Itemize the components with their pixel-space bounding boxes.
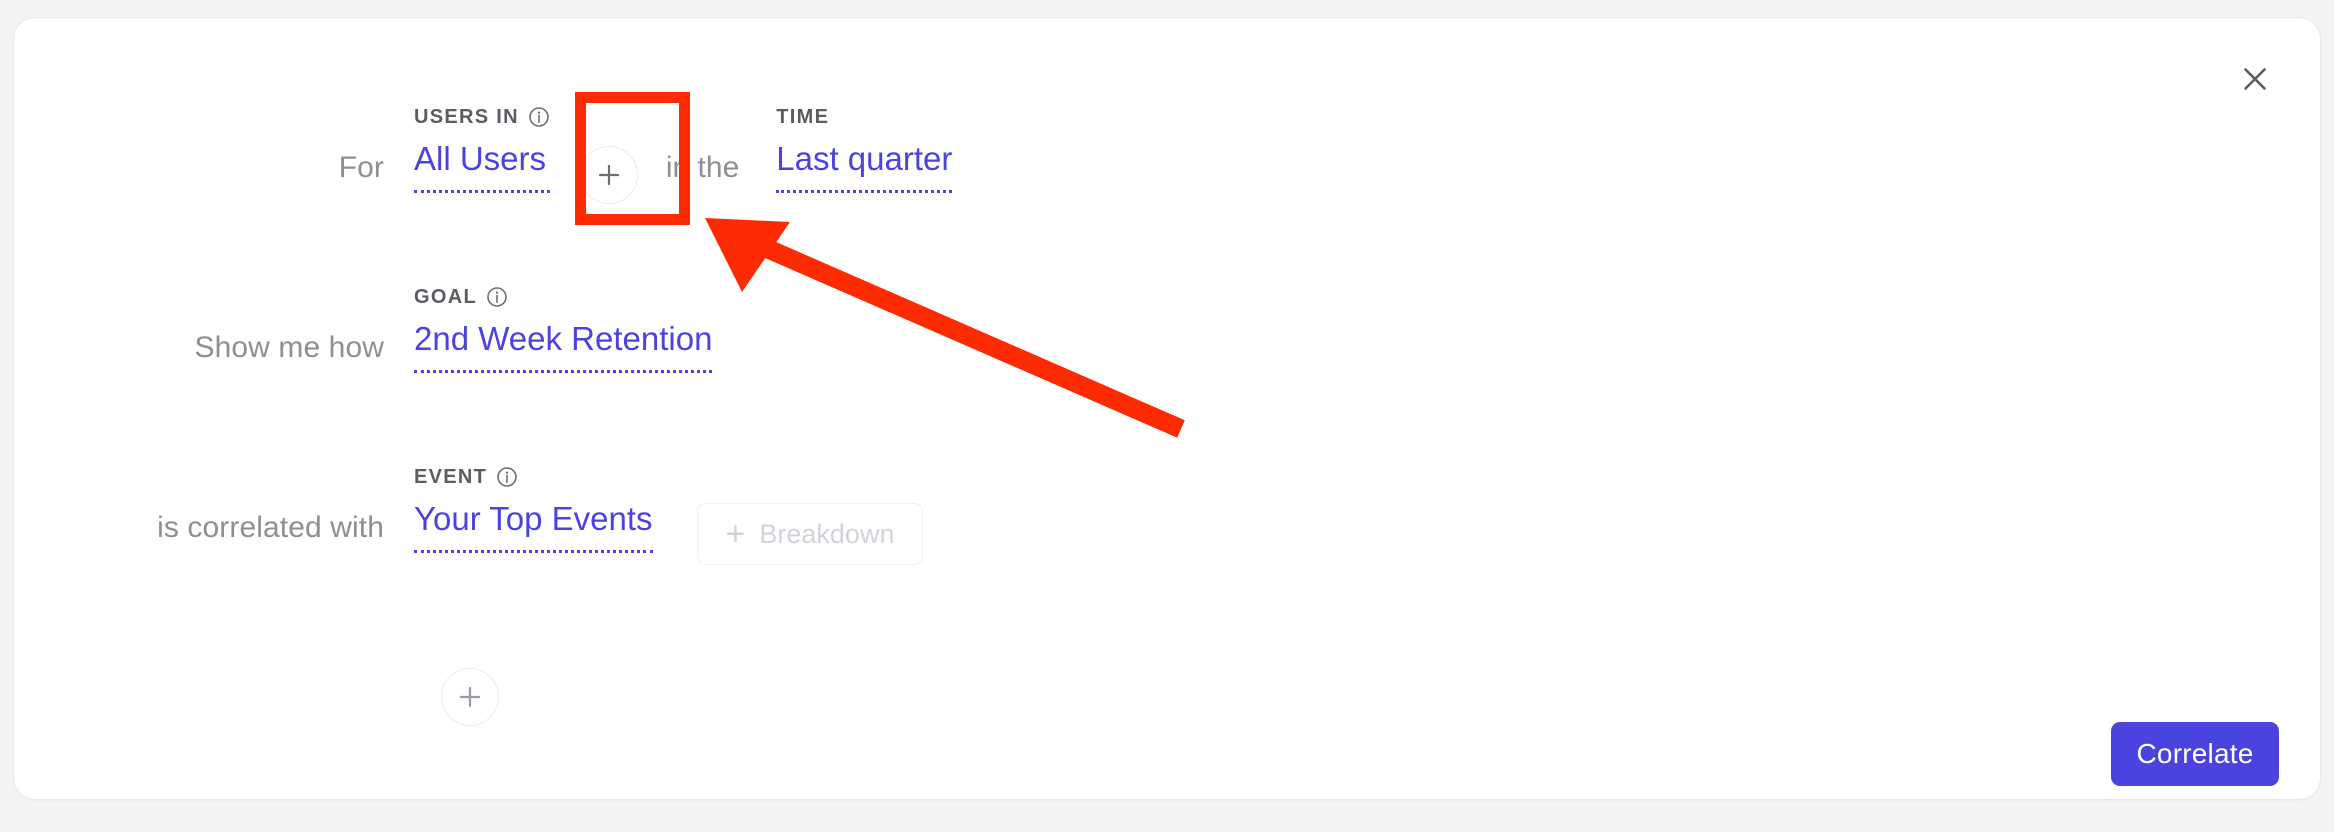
add-query-row-button[interactable] [441, 668, 499, 726]
plus-icon [596, 162, 622, 188]
field-value-users-in[interactable]: All Users [414, 138, 550, 193]
field-label-text: TIME [776, 106, 829, 129]
row-prefix-is-correlated-with: is correlated with [14, 464, 414, 545]
query-row-users: For USERS IN All Users [14, 104, 952, 224]
field-label-time: TIME [776, 104, 952, 130]
field-value-goal[interactable]: 2nd Week Retention [414, 318, 712, 373]
field-label-users-in: USERS IN [414, 104, 550, 130]
field-label-text: EVENT [414, 466, 487, 489]
field-label-text: GOAL [414, 286, 477, 309]
correlation-builder-card: For USERS IN All Users [13, 17, 2321, 800]
info-icon[interactable] [528, 106, 550, 128]
field-goal: GOAL 2nd Week Retention [414, 284, 712, 373]
close-button[interactable] [2232, 56, 2278, 102]
field-label-goal: GOAL [414, 284, 712, 310]
screen-root: For USERS IN All Users [0, 0, 2334, 832]
plus-icon [457, 684, 483, 710]
plus-icon: + [726, 517, 746, 551]
row-prefix-for: For [14, 104, 414, 185]
add-breakdown-button[interactable]: + Breakdown [697, 503, 924, 565]
field-label-event: EVENT [414, 464, 653, 490]
field-users-in: USERS IN All Users [414, 104, 550, 193]
field-time: TIME Last quarter [776, 104, 952, 193]
correlate-button[interactable]: Correlate [2111, 722, 2279, 786]
row-prefix-show-me-how: Show me how [14, 284, 414, 365]
add-cohort-filter-button[interactable] [580, 146, 638, 204]
info-icon[interactable] [496, 466, 518, 488]
field-event: EVENT Your Top Events [414, 464, 653, 553]
query-row-event: is correlated with EVENT Your Top Event [14, 464, 923, 584]
field-value-event[interactable]: Your Top Events [414, 498, 653, 553]
field-value-time[interactable]: Last quarter [776, 138, 952, 193]
info-icon[interactable] [486, 286, 508, 308]
close-icon [2242, 66, 2268, 92]
breakdown-label: Breakdown [759, 519, 894, 550]
row-inline-text-in-the: in the [666, 104, 739, 185]
query-row-goal: Show me how GOAL 2nd Week Retention [14, 284, 712, 404]
field-label-text: USERS IN [414, 106, 519, 129]
